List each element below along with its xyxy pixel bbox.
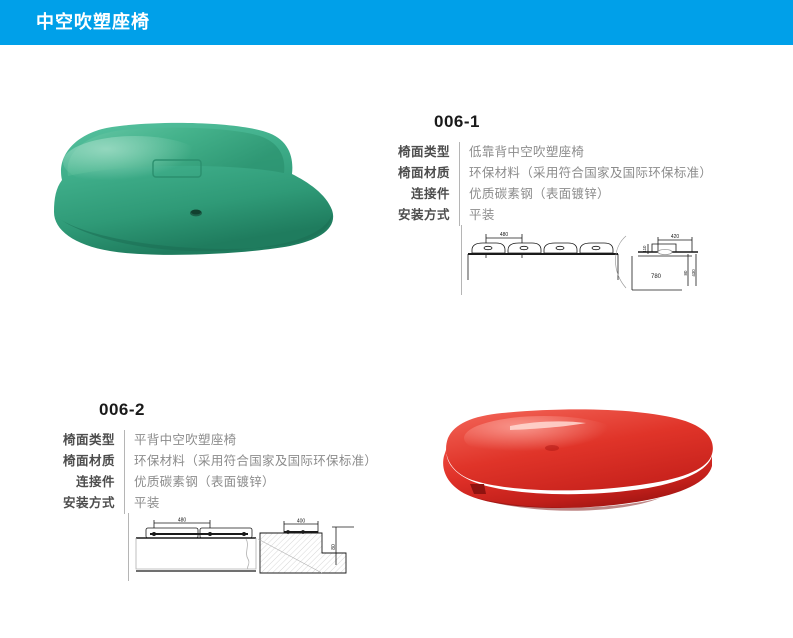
drawing-svg-006-2: 480 400 xyxy=(132,515,362,585)
dimension-label-420: 420 xyxy=(671,234,680,240)
red-seat-drain-hole xyxy=(545,445,559,451)
product-photo-006-1 xyxy=(40,118,350,263)
spec-value: 环保材料（采用符合国家及国际环保标准） xyxy=(460,163,713,184)
spec-value: 优质碳素钢（表面镀锌） xyxy=(125,472,378,493)
spec-value: 优质碳素钢（表面镀锌） xyxy=(460,184,713,205)
technical-drawing-006-1: 480 420 xyxy=(466,228,701,298)
seat-specular-highlight xyxy=(63,136,207,188)
spec-label: 椅面类型 xyxy=(398,142,460,163)
spec-value: 环保材料（采用符合国家及国际环保标准） xyxy=(125,451,378,472)
spec-value: 平装 xyxy=(460,205,713,226)
green-seat-illustration xyxy=(40,118,350,263)
spec-label: 连接件 xyxy=(63,472,125,493)
spec-row: 椅面类型 低靠背中空吹塑座椅 xyxy=(398,142,712,163)
drawing-svg-006-1: 480 420 xyxy=(466,228,701,298)
spec-row: 椅面类型 平背中空吹塑座椅 xyxy=(63,430,377,451)
spec-label: 椅面材质 xyxy=(63,451,125,472)
red-seat-illustration xyxy=(424,402,724,532)
spec-label: 椅面类型 xyxy=(63,430,125,451)
spec-row: 连接件 优质碳素钢（表面镀锌） xyxy=(398,184,712,205)
dimension-label-80-b: 80 xyxy=(331,544,337,550)
dimension-label-110: 110 xyxy=(642,245,647,253)
dimension-label-780: 780 xyxy=(651,274,662,280)
spec-label: 安装方式 xyxy=(63,493,125,514)
page-title: 中空吹塑座椅 xyxy=(36,9,150,35)
dimension-label-430: 430 xyxy=(691,269,696,277)
spec-row: 椅面材质 环保材料（采用符合国家及国际环保标准） xyxy=(398,163,712,184)
product-code-006-2: 006-2 xyxy=(99,400,383,420)
product-code-006-1: 006-1 xyxy=(434,112,698,132)
spec-divider-extension-006-1 xyxy=(461,225,462,295)
spec-label: 安装方式 xyxy=(398,205,460,226)
spec-table-006-1: 椅面类型 低靠背中空吹塑座椅 椅面材质 环保材料（采用符合国家及国际环保标准） … xyxy=(398,142,712,226)
seat-drain-hole-inner xyxy=(191,210,201,215)
product-block-006-1: 006-1 椅面类型 低靠背中空吹塑座椅 椅面材质 环保材料（采用符合国家及国际… xyxy=(398,112,698,226)
spec-row: 安装方式 平装 xyxy=(63,493,377,514)
seat-row-elevation xyxy=(472,243,613,253)
spec-row: 连接件 优质碳素钢（表面镀锌） xyxy=(63,472,377,493)
spec-value: 平装 xyxy=(125,493,378,514)
dimension-label-80: 80 xyxy=(683,270,688,275)
spec-value: 低靠背中空吹塑座椅 xyxy=(460,142,713,163)
dimension-label-480: 480 xyxy=(500,232,509,238)
dimension-label-480-b: 480 xyxy=(178,518,187,524)
product-block-006-2: 006-2 椅面类型 平背中空吹塑座椅 椅面材质 环保材料（采用符合国家及国际环… xyxy=(63,400,383,514)
spec-row: 椅面材质 环保材料（采用符合国家及国际环保标准） xyxy=(63,451,377,472)
product-photo-006-2 xyxy=(424,402,724,532)
spec-label: 连接件 xyxy=(398,184,460,205)
spec-table-006-2: 椅面类型 平背中空吹塑座椅 椅面材质 环保材料（采用符合国家及国际环保标准） 连… xyxy=(63,430,377,514)
concrete-step-section xyxy=(260,533,346,573)
spec-row: 安装方式 平装 xyxy=(398,205,712,226)
dimension-label-400: 400 xyxy=(297,519,306,525)
spec-value: 平背中空吹塑座椅 xyxy=(125,430,378,451)
spec-label: 椅面材质 xyxy=(398,163,460,184)
spec-divider-extension-006-2 xyxy=(128,513,129,581)
technical-drawing-006-2: 480 400 xyxy=(132,515,362,585)
